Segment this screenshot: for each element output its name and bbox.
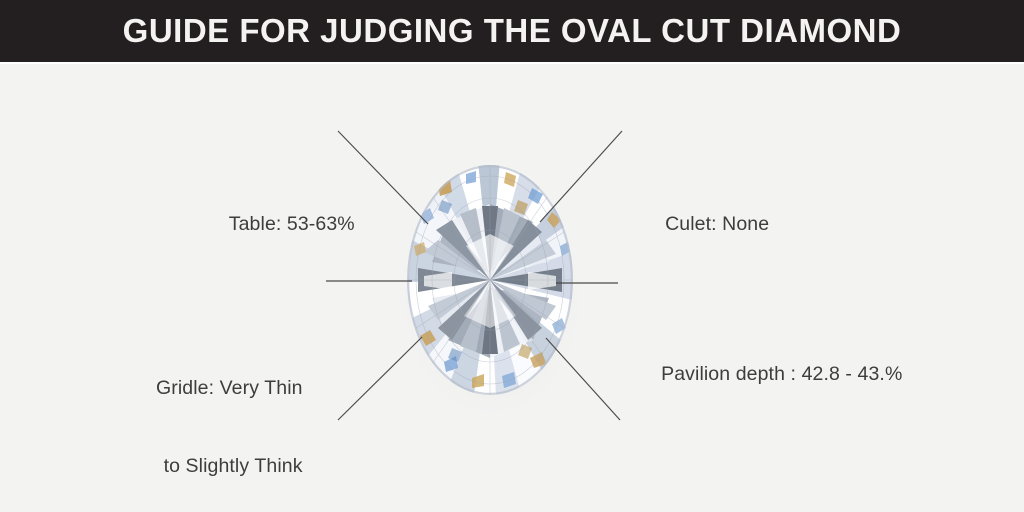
- callout-label-pavilion-depth: Pavilion depth : 42.8 - 43.%: [628, 335, 902, 413]
- callout-label-culet: Culet: None: [632, 185, 769, 263]
- callout-text-girdle-line1: Gridle: Very Thin: [156, 375, 303, 401]
- diamond-facets: [407, 161, 573, 396]
- callout-text-girdle-line2: to Slightly Think: [156, 453, 303, 479]
- callout-label-table: Table: 53-63%: [196, 185, 355, 263]
- callout-text-pavilion-depth: Pavilion depth : 42.8 - 43.%: [661, 363, 902, 385]
- infographic-page: GUIDE FOR JUDGING THE OVAL CUT DIAMOND: [0, 0, 1024, 512]
- callout-label-girdle: Gridle: Very Thin to Slightly Think: [156, 323, 303, 512]
- callout-text-culet: Culet: None: [665, 213, 769, 235]
- leader-line-lwratio: [338, 337, 422, 420]
- leader-line-culet: [540, 131, 622, 222]
- diamond-illustration: [0, 0, 1024, 512]
- callout-text-table: Table: 53-63%: [229, 213, 355, 235]
- callout-label-total-depth: Total depth: 58-62%: [630, 486, 838, 512]
- diamond-diagram: Table: 53-63% Culet: None Gridle: Very T…: [0, 64, 1024, 512]
- callout-label-lw-ratio: L/W Ratio : 1.35 - 1.50: [130, 486, 361, 512]
